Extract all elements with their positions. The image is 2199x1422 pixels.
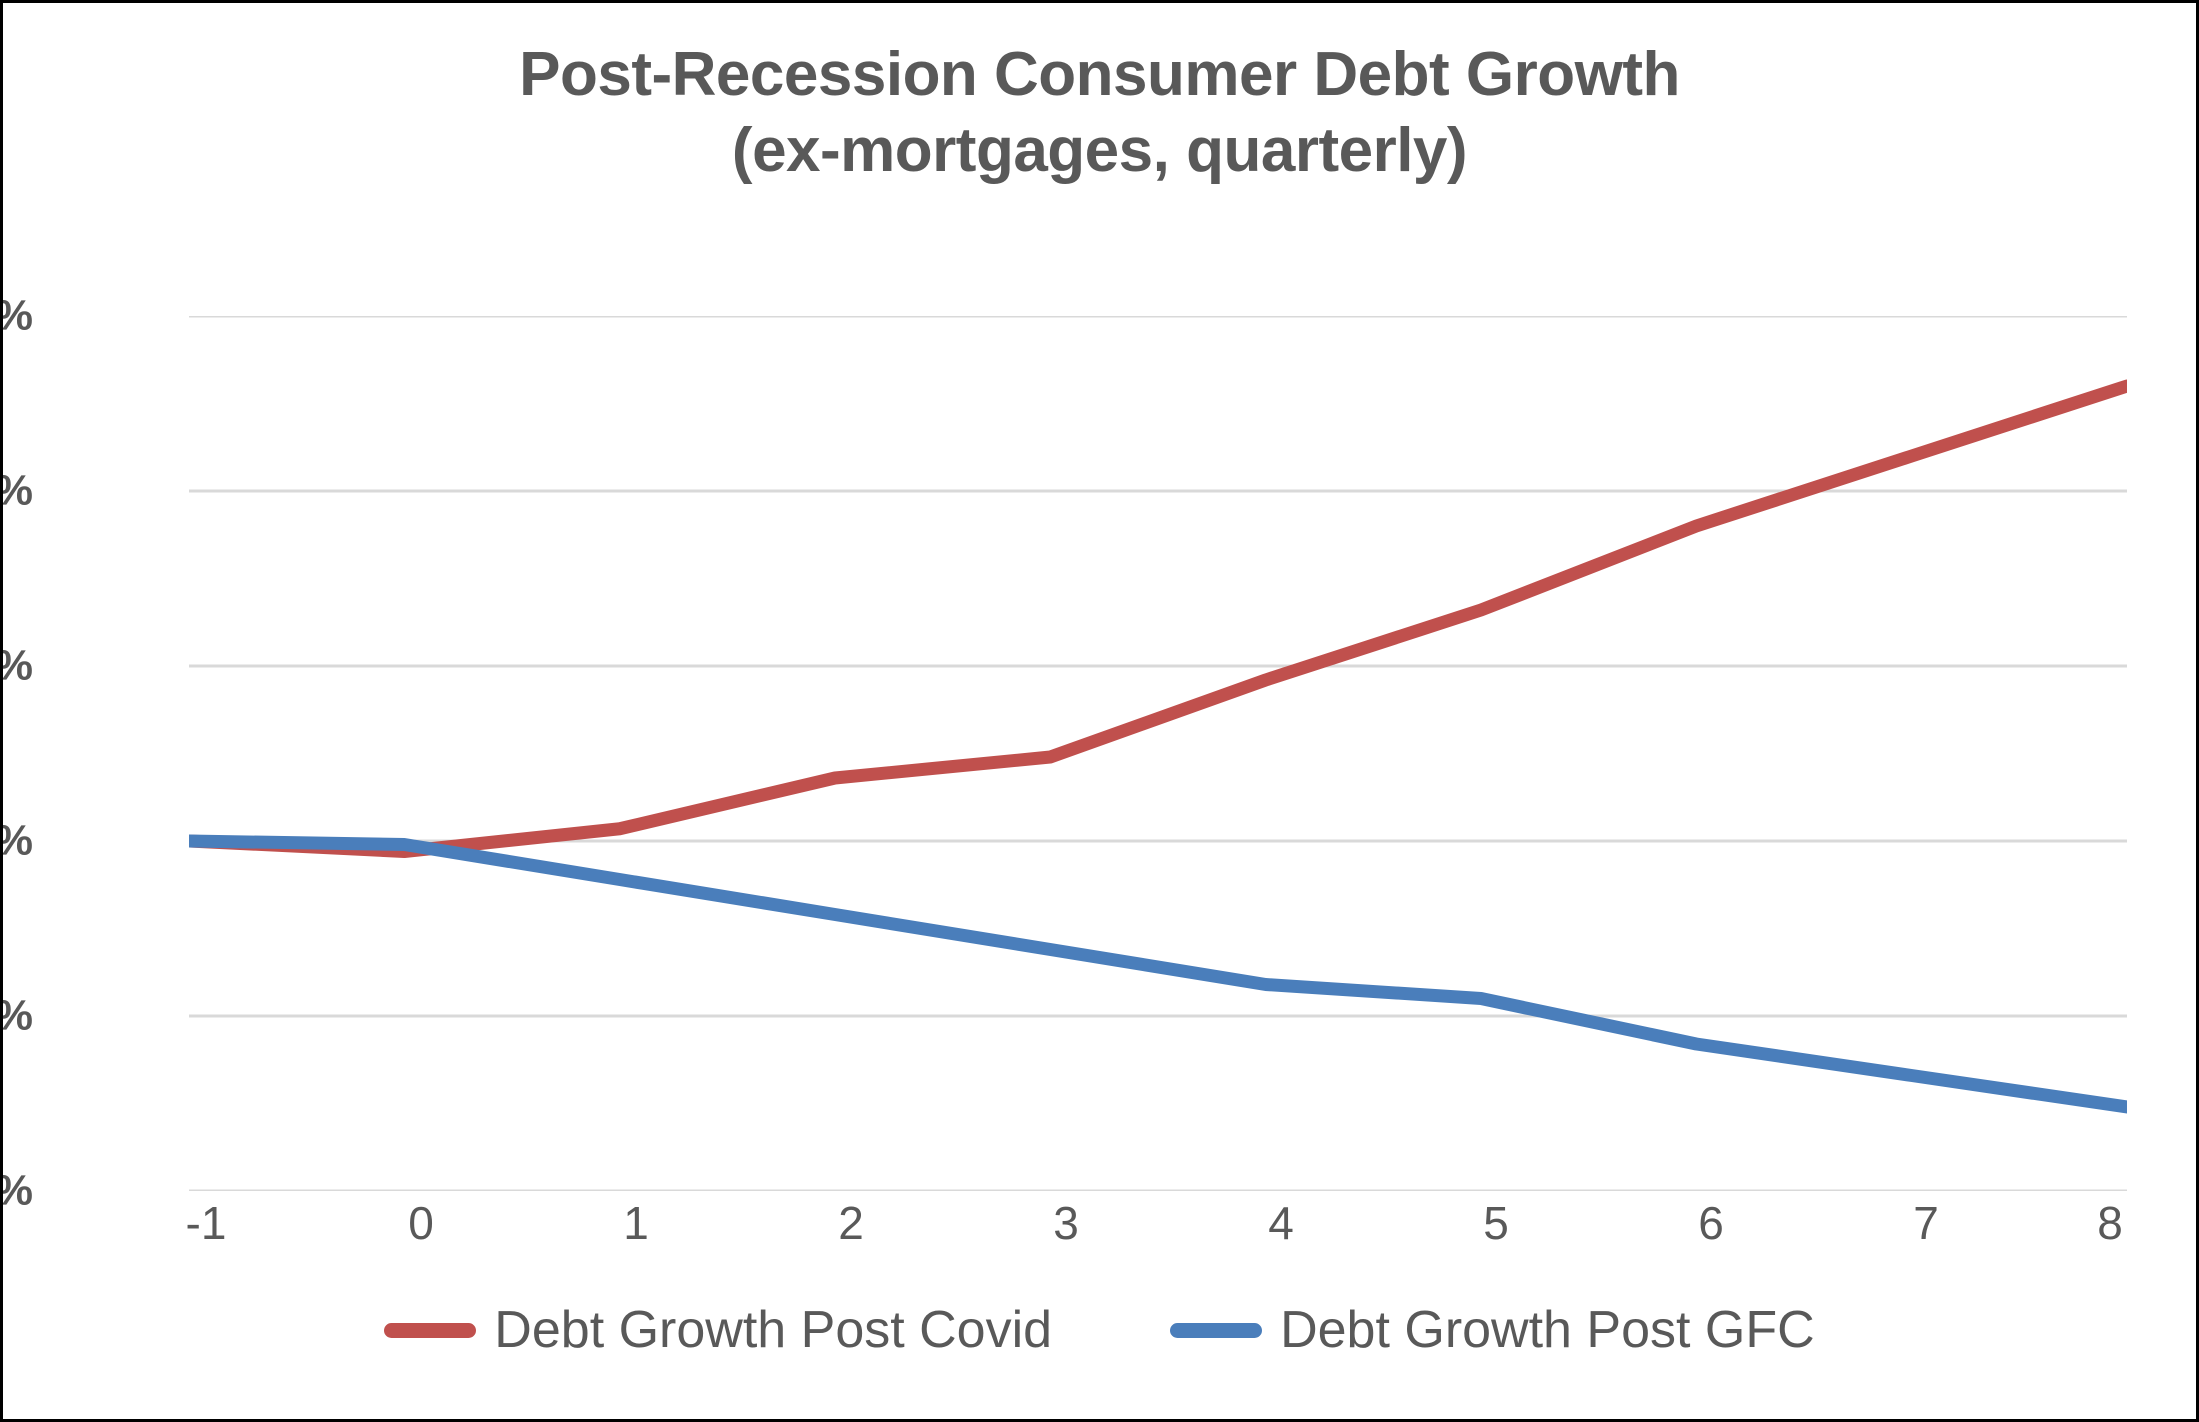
x-tick-label: 6 bbox=[1651, 1196, 1771, 1250]
y-tick-label: -10% bbox=[0, 1167, 33, 1216]
y-tick-label: 0% bbox=[0, 817, 33, 866]
x-tick-label: 5 bbox=[1436, 1196, 1556, 1250]
legend-item-label: Debt Growth Post Covid bbox=[494, 1300, 1052, 1360]
x-tick-label: 1 bbox=[576, 1196, 696, 1250]
y-tick-label: 5% bbox=[0, 642, 33, 691]
chart-title-line-1: Post-Recession Consumer Debt Growth bbox=[3, 37, 2196, 113]
y-tick-label: 15% bbox=[0, 292, 33, 341]
x-tick-label: 2 bbox=[791, 1196, 911, 1250]
x-tick-label: 3 bbox=[1006, 1196, 1126, 1250]
chart-legend: Debt Growth Post Covid Debt Growth Post … bbox=[3, 1300, 2196, 1360]
legend-swatch-icon bbox=[384, 1323, 476, 1338]
x-tick-label: 8 bbox=[2050, 1196, 2170, 1250]
legend-item-debt-growth-post-gfc[interactable]: Debt Growth Post GFC bbox=[1170, 1300, 1815, 1360]
y-tick-label: -5% bbox=[0, 992, 33, 1041]
legend-item-label: Debt Growth Post GFC bbox=[1280, 1300, 1815, 1360]
x-tick-label: 4 bbox=[1221, 1196, 1341, 1250]
chart-title: Post-Recession Consumer Debt Growth (ex-… bbox=[3, 37, 2196, 188]
plot-svg bbox=[189, 316, 2127, 1191]
y-tick-label: 10% bbox=[0, 467, 33, 516]
x-tick-label: 0 bbox=[361, 1196, 481, 1250]
x-tick-label: 7 bbox=[1866, 1196, 1986, 1250]
series-line-debt-growth-post-covid bbox=[189, 386, 2127, 852]
chart-title-line-2: (ex-mortgages, quarterly) bbox=[3, 113, 2196, 189]
series-line-debt-growth-post-gfc bbox=[189, 841, 2127, 1107]
plot-area bbox=[189, 316, 2127, 1191]
x-axis-tick-labels: -1 0 1 2 3 4 5 6 7 8 bbox=[189, 1196, 2127, 1260]
legend-item-debt-growth-post-covid[interactable]: Debt Growth Post Covid bbox=[384, 1300, 1052, 1360]
legend-swatch-icon bbox=[1170, 1323, 1262, 1338]
chart-figure: Post-Recession Consumer Debt Growth (ex-… bbox=[0, 0, 2199, 1422]
x-tick-label: -1 bbox=[146, 1196, 266, 1250]
